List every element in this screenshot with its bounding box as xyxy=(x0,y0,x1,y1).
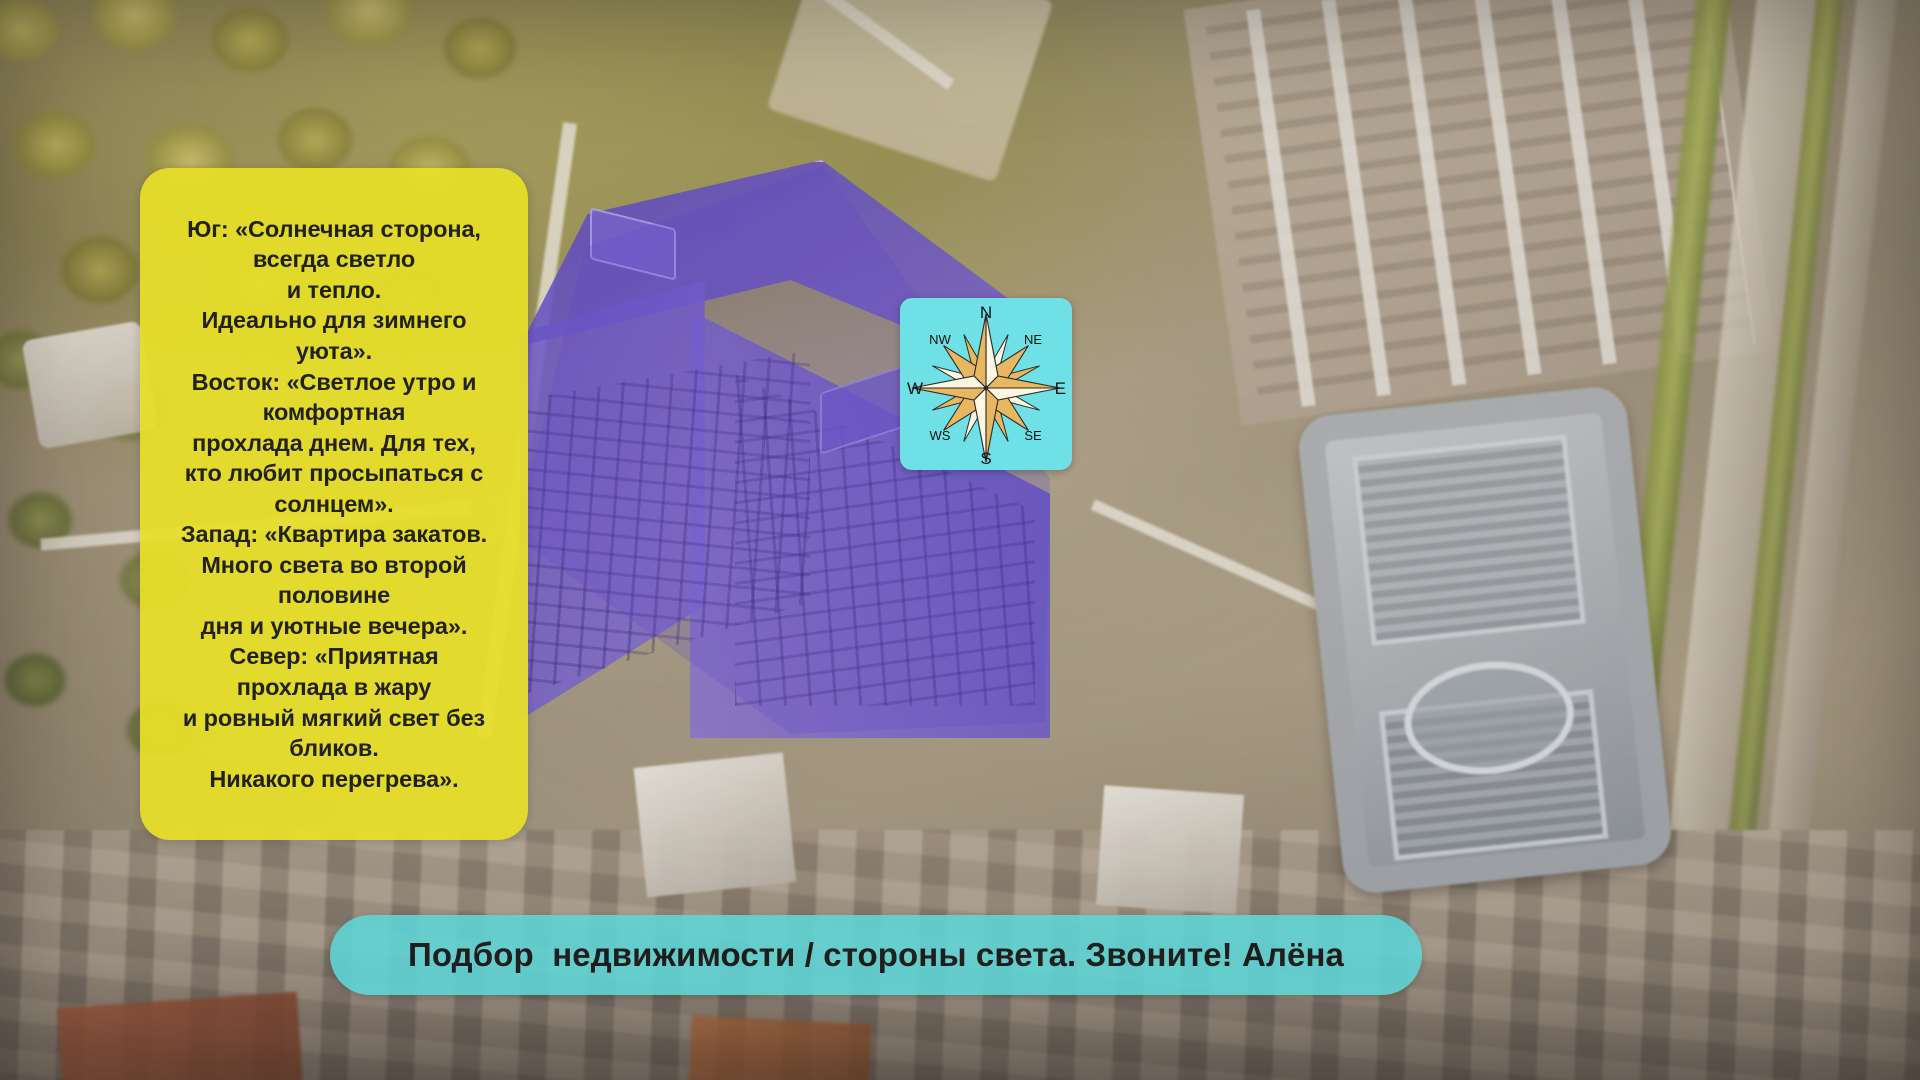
compass-label-southeast: SE xyxy=(1024,428,1042,443)
poster-canvas: N S E W NW NE WS SE Юг: «Солнечная сторо… xyxy=(0,0,1920,1080)
compass-label-east: E xyxy=(1055,379,1066,398)
red-roof-building-center xyxy=(688,1015,871,1080)
compass-label-south: S xyxy=(980,449,991,468)
compass-rose-card: N S E W NW NE WS SE xyxy=(900,298,1072,470)
compass-label-northeast: NE xyxy=(1024,332,1042,347)
compass-label-north: N xyxy=(980,303,992,322)
info-panel: Юг: «Солнечная сторона, всегда светло и … xyxy=(140,168,528,840)
compass-label-southwest: WS xyxy=(930,428,951,443)
compass-label-northwest: NW xyxy=(929,332,951,347)
compass-rose-icon: N S E W NW NE WS SE xyxy=(900,298,1072,470)
info-panel-text: Юг: «Солнечная сторона, всегда светло и … xyxy=(171,214,497,794)
compass-label-west: W xyxy=(907,379,923,398)
red-roof-building-left xyxy=(57,992,303,1080)
cta-banner[interactable]: Подбор недвижимости / стороны света. Зво… xyxy=(330,915,1422,995)
cta-banner-text: Подбор недвижимости / стороны света. Зво… xyxy=(408,936,1344,974)
complex-courtyard-top xyxy=(1352,434,1586,645)
white-building-bottom-left xyxy=(634,753,797,898)
small-building-left xyxy=(21,320,158,449)
courtyard-building-complex xyxy=(1296,384,1674,896)
white-building-bottom-right xyxy=(1096,785,1244,914)
